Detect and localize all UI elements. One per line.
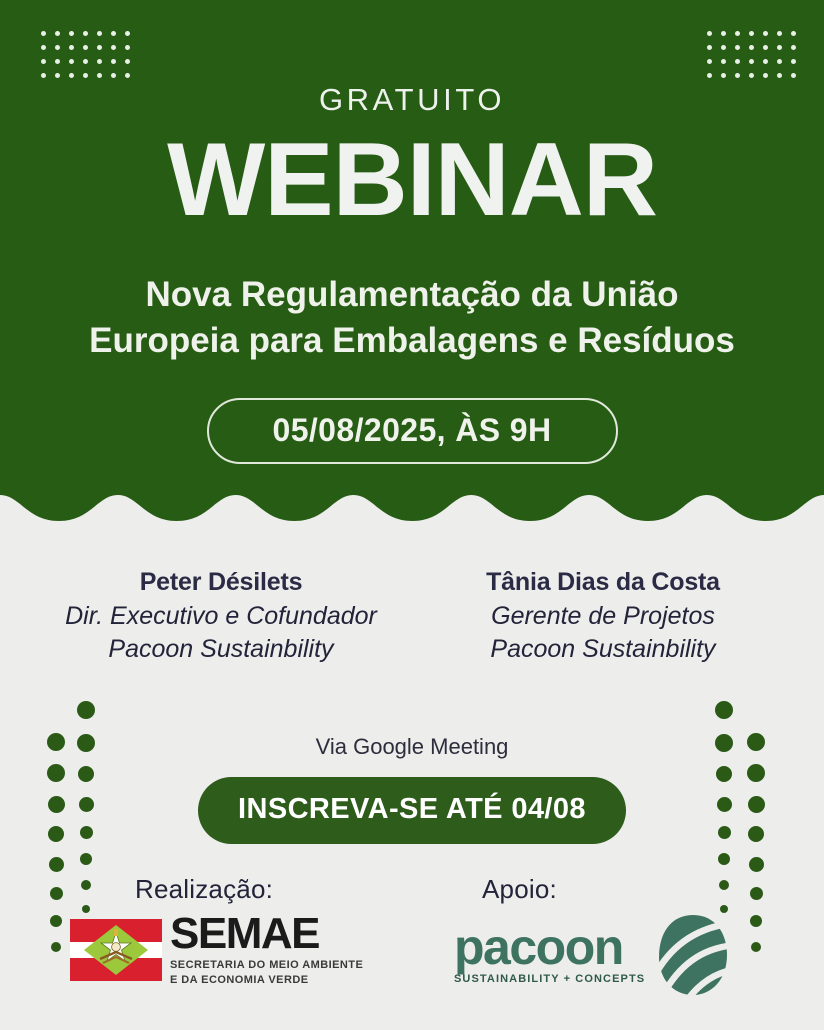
event-date-badge: 05/08/2025, ÀS 9H <box>207 398 618 464</box>
speaker-role: Gerente de Projetos <box>443 600 763 633</box>
pacoon-tagline: SUSTAINABILITY + CONCEPTS <box>454 974 645 985</box>
pacoon-leaf-icon <box>655 913 731 997</box>
dot <box>111 45 116 50</box>
semae-wordmark: SEMAE <box>170 913 363 955</box>
decorative-dot <box>80 853 92 865</box>
platform-note: Via Google Meeting <box>0 734 824 760</box>
dot <box>749 31 754 36</box>
santa-catarina-flag-icon <box>70 919 162 981</box>
dot <box>41 45 46 50</box>
dot <box>55 59 60 64</box>
dot <box>707 31 712 36</box>
decorative-dot <box>718 853 730 865</box>
dot <box>69 31 74 36</box>
subtitle: Nova Regulamentação da União Europeia pa… <box>0 272 824 364</box>
dot <box>97 59 102 64</box>
dot <box>721 31 726 36</box>
speaker-name: Peter Désilets <box>61 566 381 598</box>
dot <box>83 59 88 64</box>
decorative-dot <box>749 857 764 872</box>
dot <box>777 59 782 64</box>
register-button[interactable]: INSCREVA-SE ATÉ 04/08 <box>198 777 626 844</box>
dot <box>749 73 754 78</box>
dot <box>97 73 102 78</box>
dot <box>111 73 116 78</box>
subtitle-line-1: Nova Regulamentação da União <box>34 272 790 318</box>
dot-grid-icon-right <box>707 31 805 87</box>
speaker-name: Tânia Dias da Costa <box>443 566 763 598</box>
page-title: WEBINAR <box>0 124 824 236</box>
dot <box>735 73 740 78</box>
dot <box>83 31 88 36</box>
speaker-org: Pacoon Sustainbility <box>61 633 381 666</box>
dot <box>707 73 712 78</box>
semae-text: SEMAE SECRETARIA DO MEIO AMBIENTE E DA E… <box>170 913 363 987</box>
dot <box>763 59 768 64</box>
dot <box>125 45 130 50</box>
dot <box>125 31 130 36</box>
dot <box>791 73 796 78</box>
semae-tagline-line-2: E DA ECONOMIA VERDE <box>170 973 363 988</box>
dot <box>735 45 740 50</box>
dot <box>791 45 796 50</box>
dot <box>721 59 726 64</box>
dot <box>763 31 768 36</box>
dot <box>791 31 796 36</box>
dot <box>125 59 130 64</box>
dot <box>125 73 130 78</box>
pacoon-logo: pacoon SUSTAINABILITY + CONCEPTS <box>454 913 754 997</box>
speaker-role: Dir. Executivo e Cofundador <box>61 600 381 633</box>
dot <box>707 45 712 50</box>
dot <box>69 73 74 78</box>
dot <box>41 59 46 64</box>
dot <box>749 45 754 50</box>
hero-section: GRATUITO WEBINAR Nova Regulamentação da … <box>0 0 824 522</box>
semae-logo: SEMAE SECRETARIA DO MEIO AMBIENTE E DA E… <box>70 913 370 987</box>
speaker-card: Peter Désilets Dir. Executivo e Cofundad… <box>61 566 381 665</box>
realizacao-label: Realização: <box>70 874 370 905</box>
semae-tagline-line-1: SECRETARIA DO MEIO AMBIENTE <box>170 958 363 973</box>
cta-container: INSCREVA-SE ATÉ 04/08 <box>0 777 824 844</box>
dot <box>735 31 740 36</box>
dot <box>777 31 782 36</box>
decorative-dot <box>77 701 95 719</box>
dot <box>83 45 88 50</box>
speaker-org: Pacoon Sustainbility <box>443 633 763 666</box>
webinar-poster: GRATUITO WEBINAR Nova Regulamentação da … <box>0 0 824 1030</box>
decorative-dot <box>49 857 64 872</box>
scalloped-wave-divider <box>0 477 824 522</box>
dot <box>69 45 74 50</box>
dot-grid-icon-left <box>41 31 139 87</box>
dot <box>777 45 782 50</box>
speaker-card: Tânia Dias da Costa Gerente de Projetos … <box>443 566 763 665</box>
semae-tagline: SECRETARIA DO MEIO AMBIENTE E DA ECONOMI… <box>170 958 363 988</box>
dot <box>69 59 74 64</box>
logo-block-realizacao: Realização: SEMAE <box>70 874 370 997</box>
date-pill-container: 05/08/2025, ÀS 9H <box>0 398 824 464</box>
apoio-label: Apoio: <box>454 874 754 905</box>
dot <box>55 31 60 36</box>
eyebrow-gratuito: GRATUITO <box>0 82 824 118</box>
logos-row: Realização: SEMAE <box>0 874 824 997</box>
dot <box>55 45 60 50</box>
pacoon-wordmark: pacoon <box>454 925 645 970</box>
pacoon-text: pacoon SUSTAINABILITY + CONCEPTS <box>454 925 645 985</box>
dot <box>777 73 782 78</box>
speakers-list: Peter Désilets Dir. Executivo e Cofundad… <box>0 566 824 665</box>
dot <box>41 73 46 78</box>
dot <box>721 45 726 50</box>
dot <box>763 73 768 78</box>
dot <box>55 73 60 78</box>
dot <box>749 59 754 64</box>
dot <box>97 31 102 36</box>
dot <box>111 59 116 64</box>
dot <box>721 73 726 78</box>
dot <box>97 45 102 50</box>
body-section: Peter Désilets Dir. Executivo e Cofundad… <box>0 522 824 1030</box>
decorative-dot <box>715 701 733 719</box>
dot <box>735 59 740 64</box>
dot <box>763 45 768 50</box>
dot <box>83 73 88 78</box>
dot <box>791 59 796 64</box>
logo-block-apoio: Apoio: pacoon SUSTAINABILITY + CONCEPTS <box>454 874 754 997</box>
dot <box>707 59 712 64</box>
subtitle-line-2: Europeia para Embalagens e Resíduos <box>34 318 790 364</box>
dot <box>41 31 46 36</box>
dot <box>111 31 116 36</box>
